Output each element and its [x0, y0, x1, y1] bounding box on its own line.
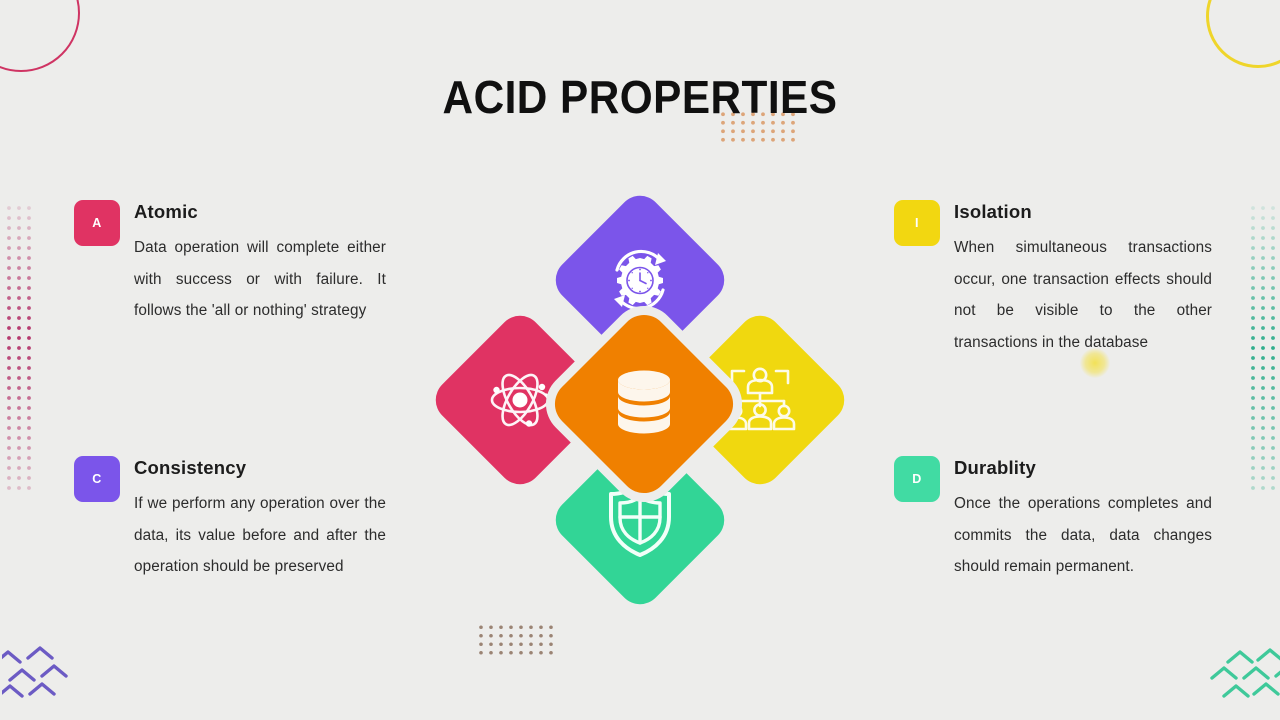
dot-grid-left — [4, 203, 34, 493]
property-text-atomic: Atomic Data operation will complete eith… — [134, 200, 386, 327]
acid-diamond-diagram — [438, 198, 842, 602]
property-text-durability: Durablity Once the operations completes … — [954, 456, 1212, 583]
property-block-durability: D Durablity Once the operations complete… — [894, 456, 1212, 583]
property-heading-durability: Durablity — [954, 457, 1212, 479]
property-block-atomic: A Atomic Data operation will complete ei… — [74, 200, 386, 327]
property-text-consistency: Consistency If we perform any operation … — [134, 456, 386, 583]
property-heading-atomic: Atomic — [134, 201, 386, 223]
property-text-isolation: Isolation When simultaneous transactions… — [954, 200, 1212, 358]
badge-consistency: C — [74, 456, 120, 502]
dot-grid-right — [1248, 203, 1278, 493]
atom-icon — [483, 363, 557, 437]
dot-grid-bottom-center — [476, 623, 556, 657]
property-heading-isolation: Isolation — [954, 201, 1212, 223]
diamond-database-center[interactable] — [545, 305, 743, 503]
circle-decoration-top-left — [0, 0, 80, 72]
property-body-consistency: If we perform any operation over the dat… — [134, 488, 386, 583]
page-title: ACID PROPERTIES — [51, 70, 1229, 124]
team-hierarchy-icon — [722, 365, 798, 435]
gear-clock-cycle-icon — [603, 243, 677, 317]
property-body-atomic: Data operation will complete either with… — [134, 232, 386, 327]
badge-isolation: I — [894, 200, 940, 246]
property-block-consistency: C Consistency If we perform any operatio… — [74, 456, 386, 583]
property-block-isolation: I Isolation When simultaneous transactio… — [894, 200, 1212, 358]
chevron-decoration-bottom-right — [1198, 640, 1280, 702]
database-icon — [611, 367, 677, 441]
badge-atomic: A — [74, 200, 120, 246]
badge-durability: D — [894, 456, 940, 502]
property-body-isolation: When simultaneous transactions occur, on… — [954, 232, 1212, 358]
slide-canvas: ACID PROPERTIES A Atomic Data operation … — [0, 0, 1280, 720]
circle-decoration-top-right — [1206, 0, 1280, 68]
chevron-decoration-bottom-left — [2, 640, 88, 702]
property-heading-consistency: Consistency — [134, 457, 386, 479]
property-body-durability: Once the operations completes and commit… — [954, 488, 1212, 583]
